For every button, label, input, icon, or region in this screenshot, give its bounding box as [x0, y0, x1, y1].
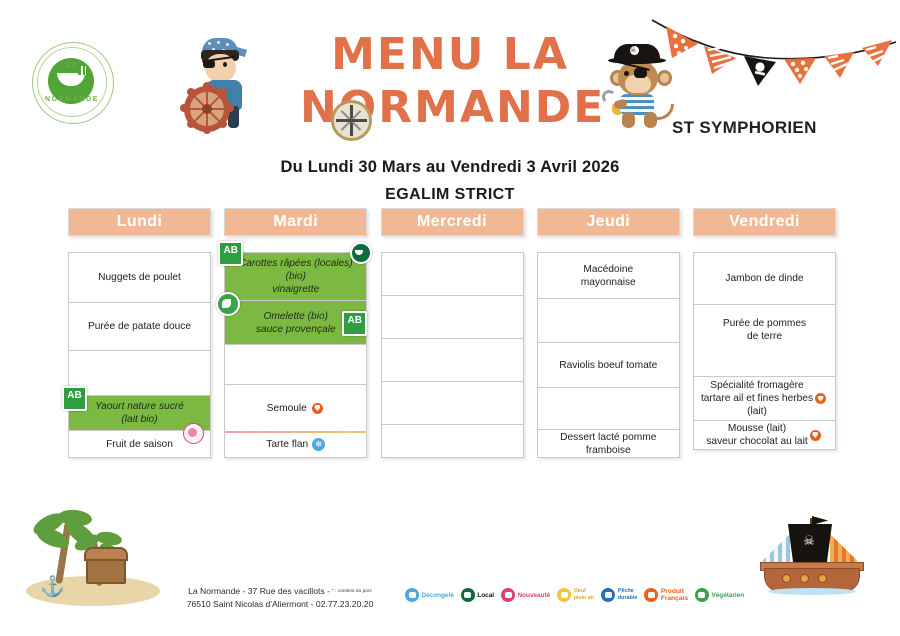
chest-lid	[84, 547, 128, 561]
day-header-vendredi: Vendredi	[693, 208, 836, 236]
menu-item-label: Spécialité fromagère tartare ail et fine…	[701, 379, 813, 418]
date-range: Du Lundi 30 Mars au Vendredi 3 Avril 202…	[0, 158, 900, 177]
eye-patch-icon	[634, 68, 647, 78]
bunting-flags	[648, 14, 900, 98]
legend-item-peche-durable: Pêche durable	[601, 588, 637, 602]
menu-cell-empty	[382, 296, 523, 339]
menu-cell-empty	[382, 253, 523, 296]
eye-patch-icon	[203, 60, 215, 68]
menu-item-label: Tarte flan	[266, 438, 308, 451]
legend-item-vegetarien: Végétarien	[695, 588, 744, 602]
day-column-mercredi: Mercredi	[381, 208, 524, 458]
legend-label: Local	[477, 592, 494, 599]
day-header-mardi: Mardi	[224, 208, 367, 236]
footer-address: La Normande - 37 Rue des vacillots -* : …	[155, 585, 405, 610]
pirate-ship-icon: ☠	[750, 508, 878, 600]
title-block: MENU LA NORMANDE	[300, 28, 600, 134]
new-icon	[501, 588, 515, 602]
legend-label: Décongelé	[422, 592, 454, 599]
france-icon	[644, 588, 658, 602]
menu-cell: Jambon de dinde	[694, 253, 835, 305]
treasure-chest-icon	[86, 558, 126, 584]
menu-item-label: Omelette (bio) sauce provençale	[256, 310, 336, 336]
menu-item-label: Nuggets de poulet	[98, 271, 181, 284]
menu-grid: Lundi Nuggets de poulet Purée de patate …	[68, 208, 836, 458]
menu-item-label: Raviolis boeuf tomate	[559, 359, 657, 372]
legend: Décongelé Local Nouveauté Oeuf plein air…	[405, 588, 795, 602]
legend-label: Nouveauté	[518, 592, 551, 599]
menu-cell: Semoule	[225, 385, 366, 432]
menu-cell: Purée de pommes de terre	[694, 305, 835, 355]
day-column-lundi: Lundi Nuggets de poulet Purée de patate …	[68, 208, 211, 458]
pirate-flag-icon	[812, 516, 828, 525]
menu-item-label: Purée de pommes de terre	[723, 317, 806, 343]
day-body-mercredi	[381, 252, 524, 458]
menu-cell-empty	[382, 339, 523, 382]
legend-item-produit-francais: Produit Français	[644, 588, 688, 602]
site-name: ST SYMPHORIEN	[672, 118, 817, 138]
day-column-vendredi: Vendredi Jambon de dinde Purée de pommes…	[693, 208, 836, 458]
menu-cell: Nuggets de poulet	[69, 253, 210, 303]
menu-item-label: Dessert lacté pomme framboise	[560, 431, 656, 457]
ab-bio-badge: AB	[62, 386, 87, 411]
menu-cell: Spécialité fromagère tartare ail et fine…	[694, 377, 835, 421]
legend-label: Oeuf plein air	[574, 588, 595, 602]
legend-item-nouveaute: Nouveauté	[501, 588, 550, 602]
nouveaute-badge	[183, 423, 204, 444]
snowflake-icon	[405, 588, 419, 602]
treasure-island-icon	[18, 500, 178, 612]
produit-francais-badge	[815, 393, 826, 404]
anchor-icon	[40, 574, 58, 596]
menu-item-label: Carottes râpées (locales) (bio) vinaigre…	[239, 257, 353, 296]
day-header-lundi: Lundi	[68, 208, 211, 236]
decongele-badge	[312, 438, 325, 451]
ab-bio-badge: AB	[218, 241, 243, 266]
menu-cell-empty	[538, 388, 679, 430]
legend-label: Produit Français	[661, 588, 688, 602]
eye	[624, 71, 629, 76]
porc-note: * : contient du porc	[332, 589, 372, 594]
menu-item-label: Purée de patate douce	[88, 320, 191, 333]
egg-icon	[557, 588, 571, 602]
day-header-jeudi: Jeudi	[537, 208, 680, 236]
menu-cell: Raviolis boeuf tomate	[538, 343, 679, 388]
produit-francais-badge	[312, 403, 323, 414]
day-column-mardi: Mardi AB Carottes râpées (locales) (bio)…	[224, 208, 367, 458]
day-body-vendredi: Jambon de dinde Purée de pommes de terre…	[693, 252, 836, 450]
legend-item-decongele: Décongelé	[405, 588, 454, 602]
menu-cell-bio: AB Omelette (bio) sauce provençale	[225, 301, 366, 345]
legend-label: Végétarien	[711, 592, 744, 599]
menu-cell-empty	[694, 355, 835, 377]
menu-cell-bio: Carottes râpées (locales) (bio) vinaigre…	[225, 253, 366, 301]
day-body-lundi: Nuggets de poulet Purée de patate douce …	[68, 252, 211, 458]
pirate-boy-icon	[178, 38, 262, 130]
compass-icon	[331, 100, 372, 141]
ab-bio-badge: AB	[342, 311, 367, 336]
menu-cell-empty	[382, 425, 523, 457]
logo-word-bottom: NORMANDE	[26, 96, 118, 103]
menu-cell: Mousse (lait) saveur chocolat au lait	[694, 421, 835, 449]
legend-item-local: Local	[461, 588, 494, 602]
menu-item-label: Mousse (lait) saveur chocolat au lait	[706, 422, 807, 448]
day-header-mercredi: Mercredi	[381, 208, 524, 236]
wheel-hub	[202, 104, 212, 114]
produit-francais-badge	[810, 430, 821, 441]
address-line-1: La Normande - 37 Rue des vacillots -	[188, 586, 330, 596]
menu-cell-empty	[69, 351, 210, 396]
menu-cell: Purée de patate douce	[69, 303, 210, 351]
day-column-jeudi: Jeudi Macédoine mayonnaise Raviolis boeu…	[537, 208, 680, 458]
skull-icon: ☠	[802, 534, 816, 548]
skull-icon: ☠	[630, 46, 639, 55]
egalim-label: EGALIM STRICT	[0, 186, 900, 204]
menu-cell-empty	[538, 299, 679, 343]
local-badge	[350, 242, 372, 264]
legend-label: Pêche durable	[618, 588, 637, 602]
menu-cell-empty	[225, 345, 366, 385]
fish-icon	[601, 588, 615, 602]
menu-cell: Dessert lacté pomme framboise	[538, 430, 679, 457]
vegetarien-badge	[216, 292, 240, 316]
page-header: LA NORMANDE	[0, 0, 900, 150]
menu-item-label: Fruit de saison	[106, 438, 173, 451]
day-body-jeudi: Macédoine mayonnaise Raviolis boeuf toma…	[537, 252, 680, 458]
menu-cell: Fruit de saison	[69, 431, 210, 457]
menu-item-label: Macédoine mayonnaise	[581, 263, 636, 289]
local-icon	[461, 588, 475, 602]
menu-cell: Macédoine mayonnaise	[538, 253, 679, 299]
menu-item-label: Yaourt nature sucré (lait bio)	[95, 400, 184, 426]
la-normande-logo: LA NORMANDE	[26, 40, 120, 124]
address-line-2: 76510 Saint Nicolas d'Aliermont - 02.77.…	[187, 599, 374, 609]
legend-item-oeuf-plein-air: Oeuf plein air	[557, 588, 594, 602]
menu-item-label: Semoule	[267, 402, 307, 415]
logo-word-top: LA	[26, 62, 118, 69]
divider	[225, 431, 366, 433]
day-body-mardi: AB Carottes râpées (locales) (bio) vinai…	[224, 252, 367, 458]
menu-cell: Tarte flan	[225, 432, 366, 457]
menu-page: LA NORMANDE	[0, 0, 900, 636]
eye	[223, 62, 227, 67]
menu-cell-empty	[382, 382, 523, 425]
leaf-icon	[695, 588, 709, 602]
menu-item-label: Jambon de dinde	[725, 272, 803, 285]
